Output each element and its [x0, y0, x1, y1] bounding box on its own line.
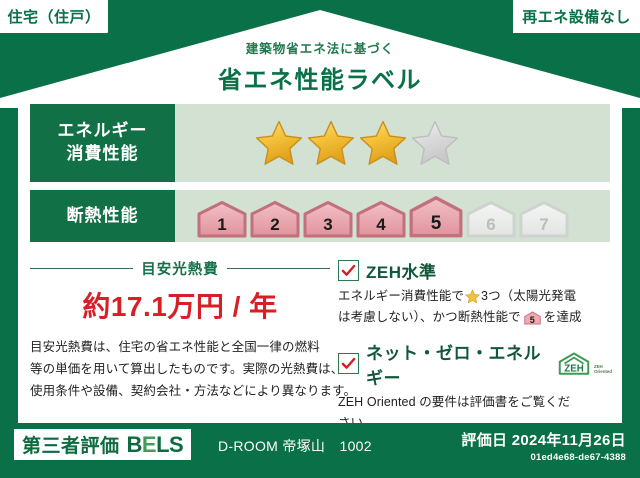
zeh-oriented-logo: ZEH ZEH Oriented — [556, 351, 612, 377]
star-rating — [175, 104, 610, 182]
bels-energy-label: 住宅（住戸） 再エネ設備なし 建築物省エネ法に基づく 省エネ性能ラベル エネルギ… — [0, 0, 640, 478]
checkbox-checked-icon — [338, 260, 359, 281]
check-net-zero-energy: ネット・ゼロ・エネルギー ZEH ZEH Oriented — [338, 339, 612, 435]
bels-logo-jp: 第三者評価 — [22, 431, 120, 458]
cost-column: 目安光熱費 約17.1万円 / 年 目安光熱費は、住宅の省エネ性能と全国一律の燃… — [30, 258, 330, 444]
checks-column: ZEH水準 エネルギー消費性能で 3つ（太陽光発電 は考慮しない）、かつ断熱性能… — [338, 258, 612, 444]
evaluation-uid: 01ed4e68-de67-4388 — [461, 452, 626, 463]
row-insulation-performance: 断熱性能 1234567 — [30, 190, 610, 242]
house-badge-number: 4 — [356, 215, 406, 235]
cost-heading-text: 目安光熱費 — [141, 258, 219, 279]
house-badge-number: 6 — [466, 215, 516, 235]
cost-rule-left — [30, 268, 133, 269]
cost-rule-right — [227, 268, 330, 269]
check-zeh-standard: ZEH水準 エネルギー消費性能で 3つ（太陽光発電 は考慮しない）、かつ断熱性能… — [338, 258, 612, 329]
house-badge-active: 4 — [356, 200, 406, 238]
zeh-body-text-4: を達成 — [544, 307, 582, 328]
house-badge-active: 1 — [197, 200, 247, 238]
evaluation-date: 評価日 2024年11月26日 — [461, 429, 626, 450]
zeh-sub-line2: Oriented — [594, 369, 612, 374]
net-zero-body-line1: ZEH Oriented の要件は評価書をご覧くだ — [338, 392, 612, 413]
inline-house-badge-number: 5 — [524, 316, 541, 325]
footer-bar: 第三者評価 BELS D-ROOM 帝塚山 1002 評価日 2024年11月2… — [0, 423, 640, 478]
bels-letter-e: E — [142, 432, 156, 457]
house-badge-active: 3 — [303, 200, 353, 238]
check-zeh-standard-body-line1: エネルギー消費性能で 3つ（太陽光発電 — [338, 286, 612, 307]
building-name: D-ROOM 帝塚山 1002 — [218, 436, 372, 456]
cost-value: 約17.1万円 / 年 — [30, 285, 330, 325]
house-badge-inactive: 6 — [466, 200, 516, 238]
row-energy-label: エネルギー 消費性能 — [30, 104, 175, 182]
rating-rows: エネルギー 消費性能 断熱性能 1234567 — [30, 104, 610, 242]
house-badge-number: 3 — [303, 215, 353, 235]
insulation-levels: 1234567 — [175, 190, 610, 242]
zeh-house-logo-icon: ZEH — [556, 351, 592, 377]
inline-house-badge-icon: 5 — [524, 311, 541, 325]
evaluation-info: 評価日 2024年11月26日 01ed4e68-de67-4388 — [461, 429, 626, 463]
checkbox-checked-icon — [338, 353, 359, 374]
zeh-body-text-1: エネルギー消費性能で — [338, 286, 464, 307]
cost-note-line-2: 等の単価を用いて算出したものです。実際の光熱費は、 — [30, 359, 330, 381]
star-filled-icon — [255, 119, 303, 167]
star-empty-icon — [411, 119, 459, 167]
house-badge-inactive: 7 — [519, 200, 569, 238]
bels-logo-en: BELS — [127, 432, 184, 458]
check-zeh-standard-title: ZEH水準 — [366, 258, 437, 283]
row-energy-label-line2: 消費性能 — [67, 143, 139, 166]
check-zeh-standard-head: ZEH水準 — [338, 258, 612, 283]
zeh-body-text-3: は考慮しない）、かつ断熱性能で — [338, 307, 521, 328]
inline-star-icon — [465, 289, 480, 304]
row-energy-performance: エネルギー 消費性能 — [30, 104, 610, 182]
house-badge-number: 2 — [250, 215, 300, 235]
bels-letter-s: S — [169, 432, 183, 457]
house-badge-active: 5 — [409, 195, 463, 238]
cost-note-line-3: 使用条件や設備、契約会社・方法などにより異なります。 — [30, 381, 330, 403]
cost-note-line-1: 目安光熱費は、住宅の省エネ性能と全国一律の燃料 — [30, 337, 330, 359]
house-badge-active: 2 — [250, 200, 300, 238]
check-net-zero-energy-head: ネット・ゼロ・エネルギー ZEH ZEH Oriented — [338, 339, 612, 389]
cost-heading: 目安光熱費 — [30, 258, 330, 279]
check-net-zero-energy-title: ネット・ゼロ・エネルギー — [366, 339, 545, 389]
bels-letter-l: L — [156, 432, 169, 457]
star-filled-icon — [359, 119, 407, 167]
badge-building-type: 住宅（住戸） — [0, 0, 108, 33]
zeh-body-text-2: 3つ（太陽光発電 — [481, 286, 576, 307]
check-zeh-standard-body: エネルギー消費性能で 3つ（太陽光発電 は考慮しない）、かつ断熱性能で 5 — [338, 286, 612, 329]
house-badge-number: 5 — [409, 213, 463, 235]
house-badge-row: 1234567 — [197, 195, 569, 238]
svg-text:ZEH: ZEH — [564, 363, 584, 374]
row-insulation-label: 断熱性能 — [30, 190, 175, 242]
house-badge-number: 7 — [519, 215, 569, 235]
star-filled-icon — [307, 119, 355, 167]
bels-logo: 第三者評価 BELS — [14, 429, 191, 460]
badge-renewable-equipment: 再エネ設備なし — [513, 0, 640, 33]
row-insulation-label-text: 断熱性能 — [67, 205, 139, 228]
zeh-oriented-sublabel: ZEH Oriented — [594, 364, 612, 374]
check-zeh-standard-body-line2: は考慮しない）、かつ断熱性能で 5 を達成 — [338, 307, 612, 328]
cost-note: 目安光熱費は、住宅の省エネ性能と全国一律の燃料 等の単価を用いて算出したものです… — [30, 337, 330, 403]
row-energy-label-line1: エネルギー — [58, 120, 148, 143]
house-badge-number: 1 — [197, 215, 247, 235]
bels-letter-b: B — [127, 432, 142, 457]
lower-section: 目安光熱費 約17.1万円 / 年 目安光熱費は、住宅の省エネ性能と全国一律の燃… — [30, 258, 612, 444]
